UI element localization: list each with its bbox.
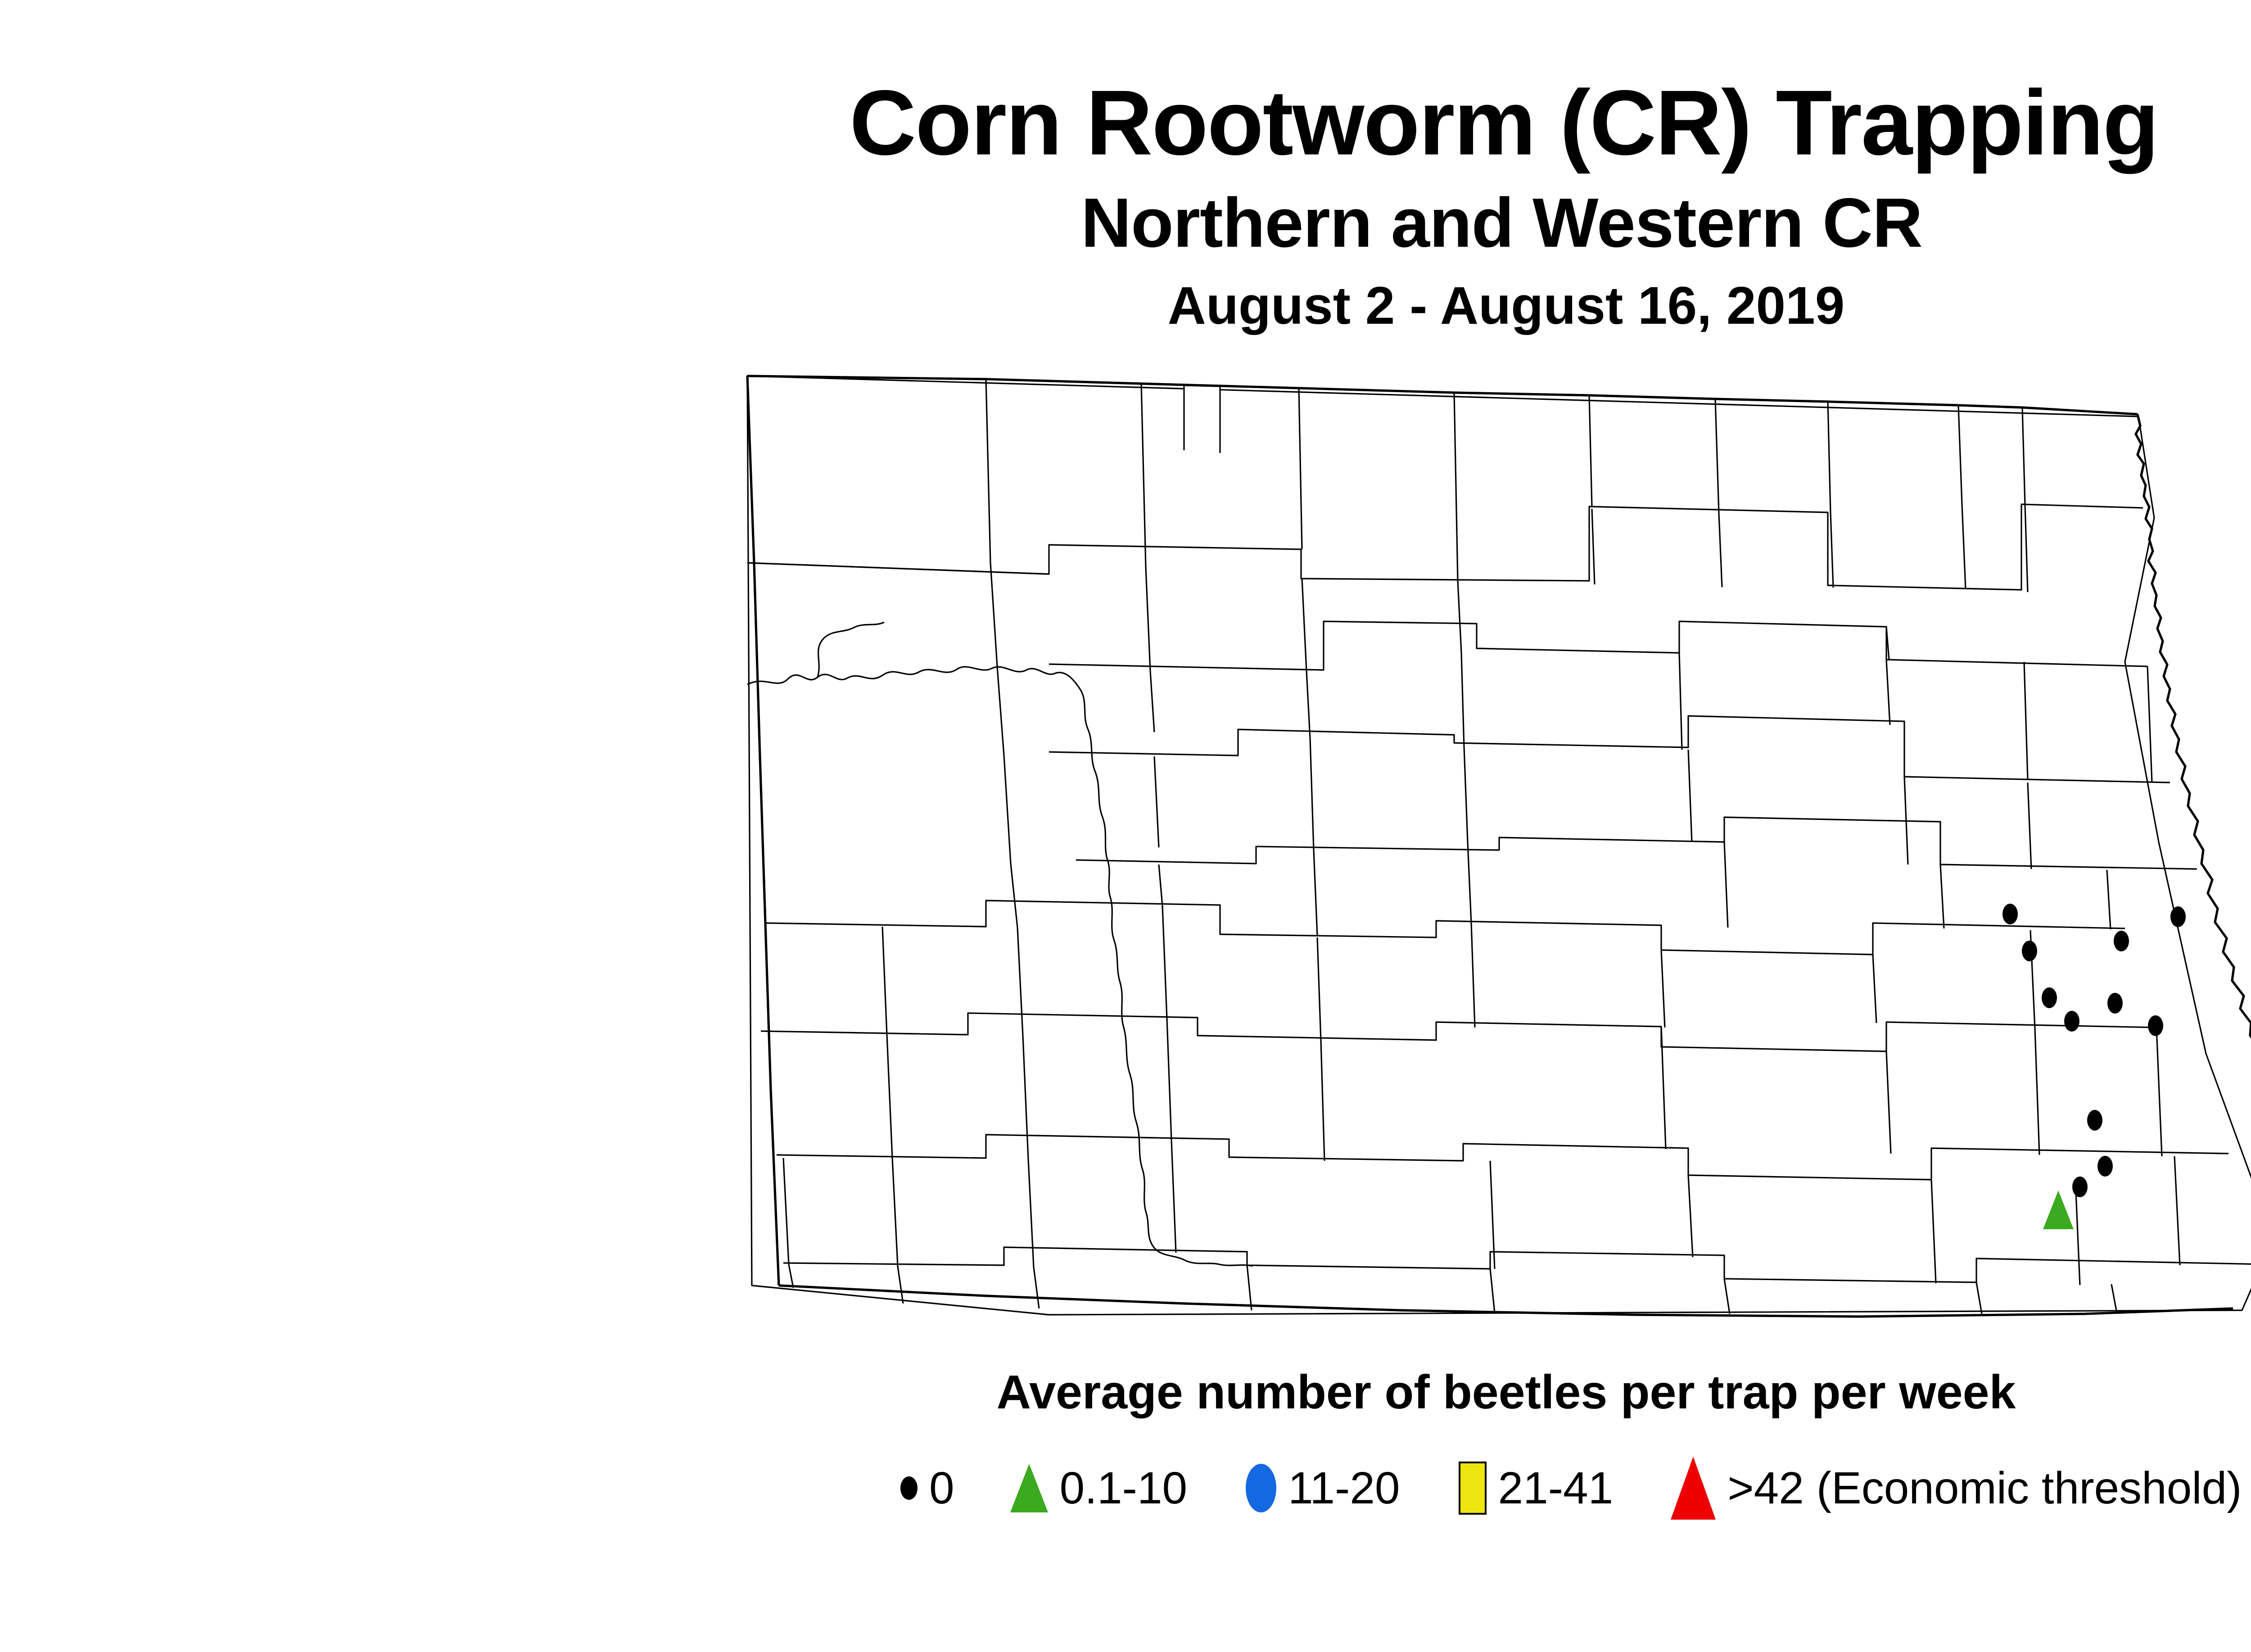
title-block: Corn Rootworm (CR) Trapping Northern and… [0,77,2251,332]
trap-point-black-circle [2022,941,2037,961]
page-title: Corn Rootworm (CR) Trapping [0,77,2251,169]
trap-point-black-circle [2148,1015,2163,1036]
trap-point-black-circle [2087,1110,2102,1131]
trap-point-black-circle [2064,1011,2079,1032]
red-triangle-icon [1671,1457,1716,1520]
legend-item-3: 21-41 [1459,1462,1614,1515]
blue-circle-icon [1246,1464,1276,1512]
date-range: August 2 - August 16, 2019 [0,279,2251,332]
legend-caption: Average number of beetles per trap per w… [0,1365,2251,1420]
county-boundaries [747,376,2251,1315]
page-subtitle: Northern and Western CR [0,188,2251,258]
black-circle-icon [900,1476,918,1500]
legend-label-0: 0 [929,1466,954,1511]
trap-point-black-circle [2002,904,2018,924]
legend-label-3: 21-41 [1498,1466,1614,1511]
trap-point-black-circle [2170,906,2186,927]
trap-point-black-circle [2114,931,2129,951]
legend-item-2: 11-20 [1246,1464,1400,1512]
yellow-square-icon [1459,1462,1487,1515]
legend-item-1: 0.1-10 [1010,1464,1188,1512]
north-dakota-county-map [734,369,2251,1324]
legend-item-4: >42 (Economic threshold) [1671,1457,2242,1520]
legend-label-2: 11-20 [1288,1466,1400,1511]
legend-label-4: >42 (Economic threshold) [1727,1466,2242,1511]
map-svg [734,369,2251,1324]
trap-point-green-triangle [2043,1190,2074,1229]
green-triangle-icon [1010,1464,1048,1512]
legend-item-0: 0 [900,1466,954,1511]
trap-point-black-circle [2097,1156,2113,1177]
legend: 0 0.1-10 11-20 21-41 >42 (Economic thres… [900,1459,2242,1517]
poster-canvas: Corn Rootworm (CR) Trapping Northern and… [0,0,2251,1652]
trap-point-black-circle [2042,987,2057,1008]
trap-point-black-circle [2107,993,2123,1014]
trap-point-black-circle [2072,1177,2088,1197]
legend-label-1: 0.1-10 [1060,1466,1188,1511]
